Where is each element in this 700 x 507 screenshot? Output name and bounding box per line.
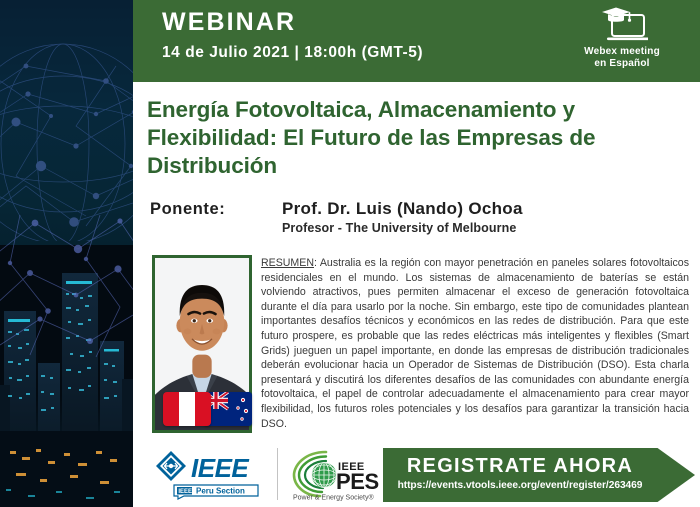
header-bar: WEBINAR 14 de Julio 2021 | 18:00h (GMT-5… <box>133 0 700 82</box>
register-now-button[interactable]: REGISTRATE AHORA https://events.vtools.i… <box>383 448 695 502</box>
peru-flag <box>163 392 211 426</box>
speaker-label: Ponente: <box>150 200 225 219</box>
abstract-lead: RESUMEN <box>261 257 314 269</box>
left-image-strip <box>0 0 133 507</box>
new-zealand-flag-svg <box>204 392 252 426</box>
webinar-poster: WEBINAR 14 de Julio 2021 | 18:00h (GMT-5… <box>0 0 700 507</box>
page-title: Energía Fotovoltaica, Almacenamiento y F… <box>147 96 687 180</box>
abstract-body: : Australia es la región con mayor penet… <box>261 257 689 430</box>
svg-text:Peru Section: Peru Section <box>196 487 245 496</box>
webex-badge-line2: en Español <box>556 58 688 70</box>
svg-text:PES: PES <box>336 469 379 494</box>
network-overlay-graphic <box>0 215 133 365</box>
webex-badge: Webex meeting en Español <box>556 6 688 70</box>
laptop-graduation-cap-icon <box>596 6 648 44</box>
svg-text:IEEE: IEEE <box>191 453 249 483</box>
webex-badge-line1: Webex meeting <box>556 46 688 58</box>
logo-row: IEEE IEEE Peru Section <box>150 446 375 504</box>
new-zealand-flag <box>204 392 252 426</box>
svg-text:IEEE: IEEE <box>178 489 192 495</box>
cta-label: REGISTRATE AHORA <box>383 456 657 476</box>
svg-text:Power & Energy Society®: Power & Energy Society® <box>293 494 374 502</box>
speaker-name: Prof. Dr. Luis (Nando) Ochoa <box>282 199 523 219</box>
cta-url: https://events.vtools.ieee.org/event/reg… <box>383 481 657 491</box>
network-globe-graphic <box>0 26 133 241</box>
speaker-affiliation: Profesor - The University of Melbourne <box>282 221 516 235</box>
abstract-text: RESUMEN: Australia es la región con mayo… <box>261 256 689 431</box>
webinar-datetime: 14 de Julio 2021 | 18:00h (GMT-5) <box>162 45 423 61</box>
ieee-pes-logo: IEEE PES Power & Energy Society® <box>290 448 380 502</box>
peru-flag-svg <box>163 392 211 426</box>
ieee-peru-section-logo: IEEE IEEE Peru Section <box>154 449 262 501</box>
pes-logo-svg: IEEE PES Power & Energy Society® <box>290 448 380 502</box>
webinar-kicker: WEBINAR <box>162 10 296 35</box>
ieee-logo-svg: IEEE IEEE Peru Section <box>154 449 262 501</box>
logo-divider <box>277 448 278 500</box>
